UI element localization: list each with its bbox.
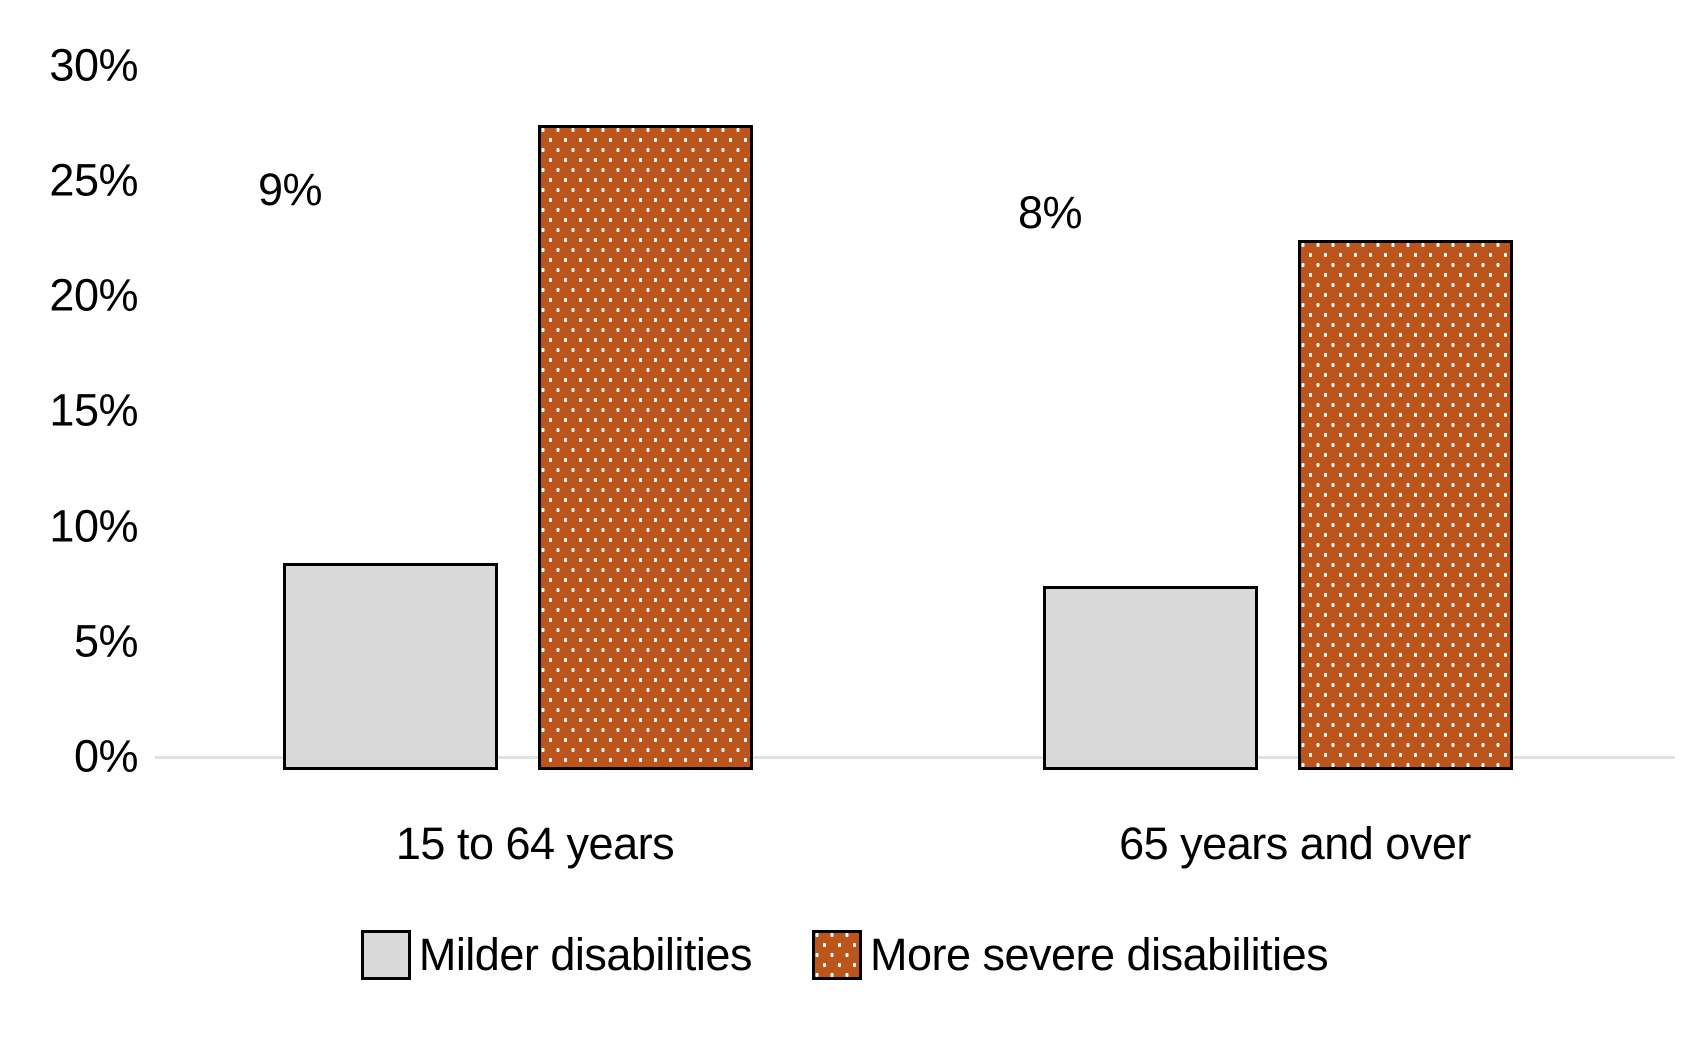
bar-milder-15-64[interactable] xyxy=(283,563,498,770)
y-tick-label-20: 20% xyxy=(49,273,138,318)
y-tick-label-10: 10% xyxy=(49,504,138,549)
legend-swatch-severe-icon xyxy=(812,930,862,980)
y-tick-label-30: 30% xyxy=(49,43,138,88)
legend-label-severe: More severe disabilities xyxy=(870,930,1328,980)
y-tick-label-25: 25% xyxy=(49,158,138,203)
y-axis: 30% 25% 20% 15% 10% 5% 0% xyxy=(0,0,150,1040)
chart-legend: Milder disabilities More severe disabili… xyxy=(0,930,1689,980)
bar-milder-65-over[interactable] xyxy=(1043,586,1258,770)
y-tick-label-15: 15% xyxy=(49,388,138,433)
bar-group-15-to-64: 9% 28% xyxy=(155,40,915,770)
bar-group-65-and-over: 8% 23% xyxy=(915,40,1675,770)
x-category-label-15-to-64: 15 to 64 years xyxy=(155,818,915,870)
bar-chart: 30% 25% 20% 15% 10% 5% 0% 9% 28% 8% 23% … xyxy=(0,0,1689,1040)
legend-swatch-milder-icon xyxy=(361,930,411,980)
legend-item-severe[interactable]: More severe disabilities xyxy=(812,930,1328,980)
bar-severe-65-over[interactable] xyxy=(1298,240,1513,770)
data-label-milder-15-64: 9% xyxy=(160,167,420,212)
legend-item-milder[interactable]: Milder disabilities xyxy=(361,930,752,980)
legend-label-milder: Milder disabilities xyxy=(419,930,752,980)
data-label-milder-65-over: 8% xyxy=(920,190,1180,235)
y-tick-label-0: 0% xyxy=(74,734,138,779)
bar-severe-15-64[interactable] xyxy=(538,125,753,770)
y-tick-label-5: 5% xyxy=(74,619,138,664)
x-category-label-65-and-over: 65 years and over xyxy=(915,818,1675,870)
plot-area: 9% 28% 8% 23% xyxy=(155,40,1675,770)
